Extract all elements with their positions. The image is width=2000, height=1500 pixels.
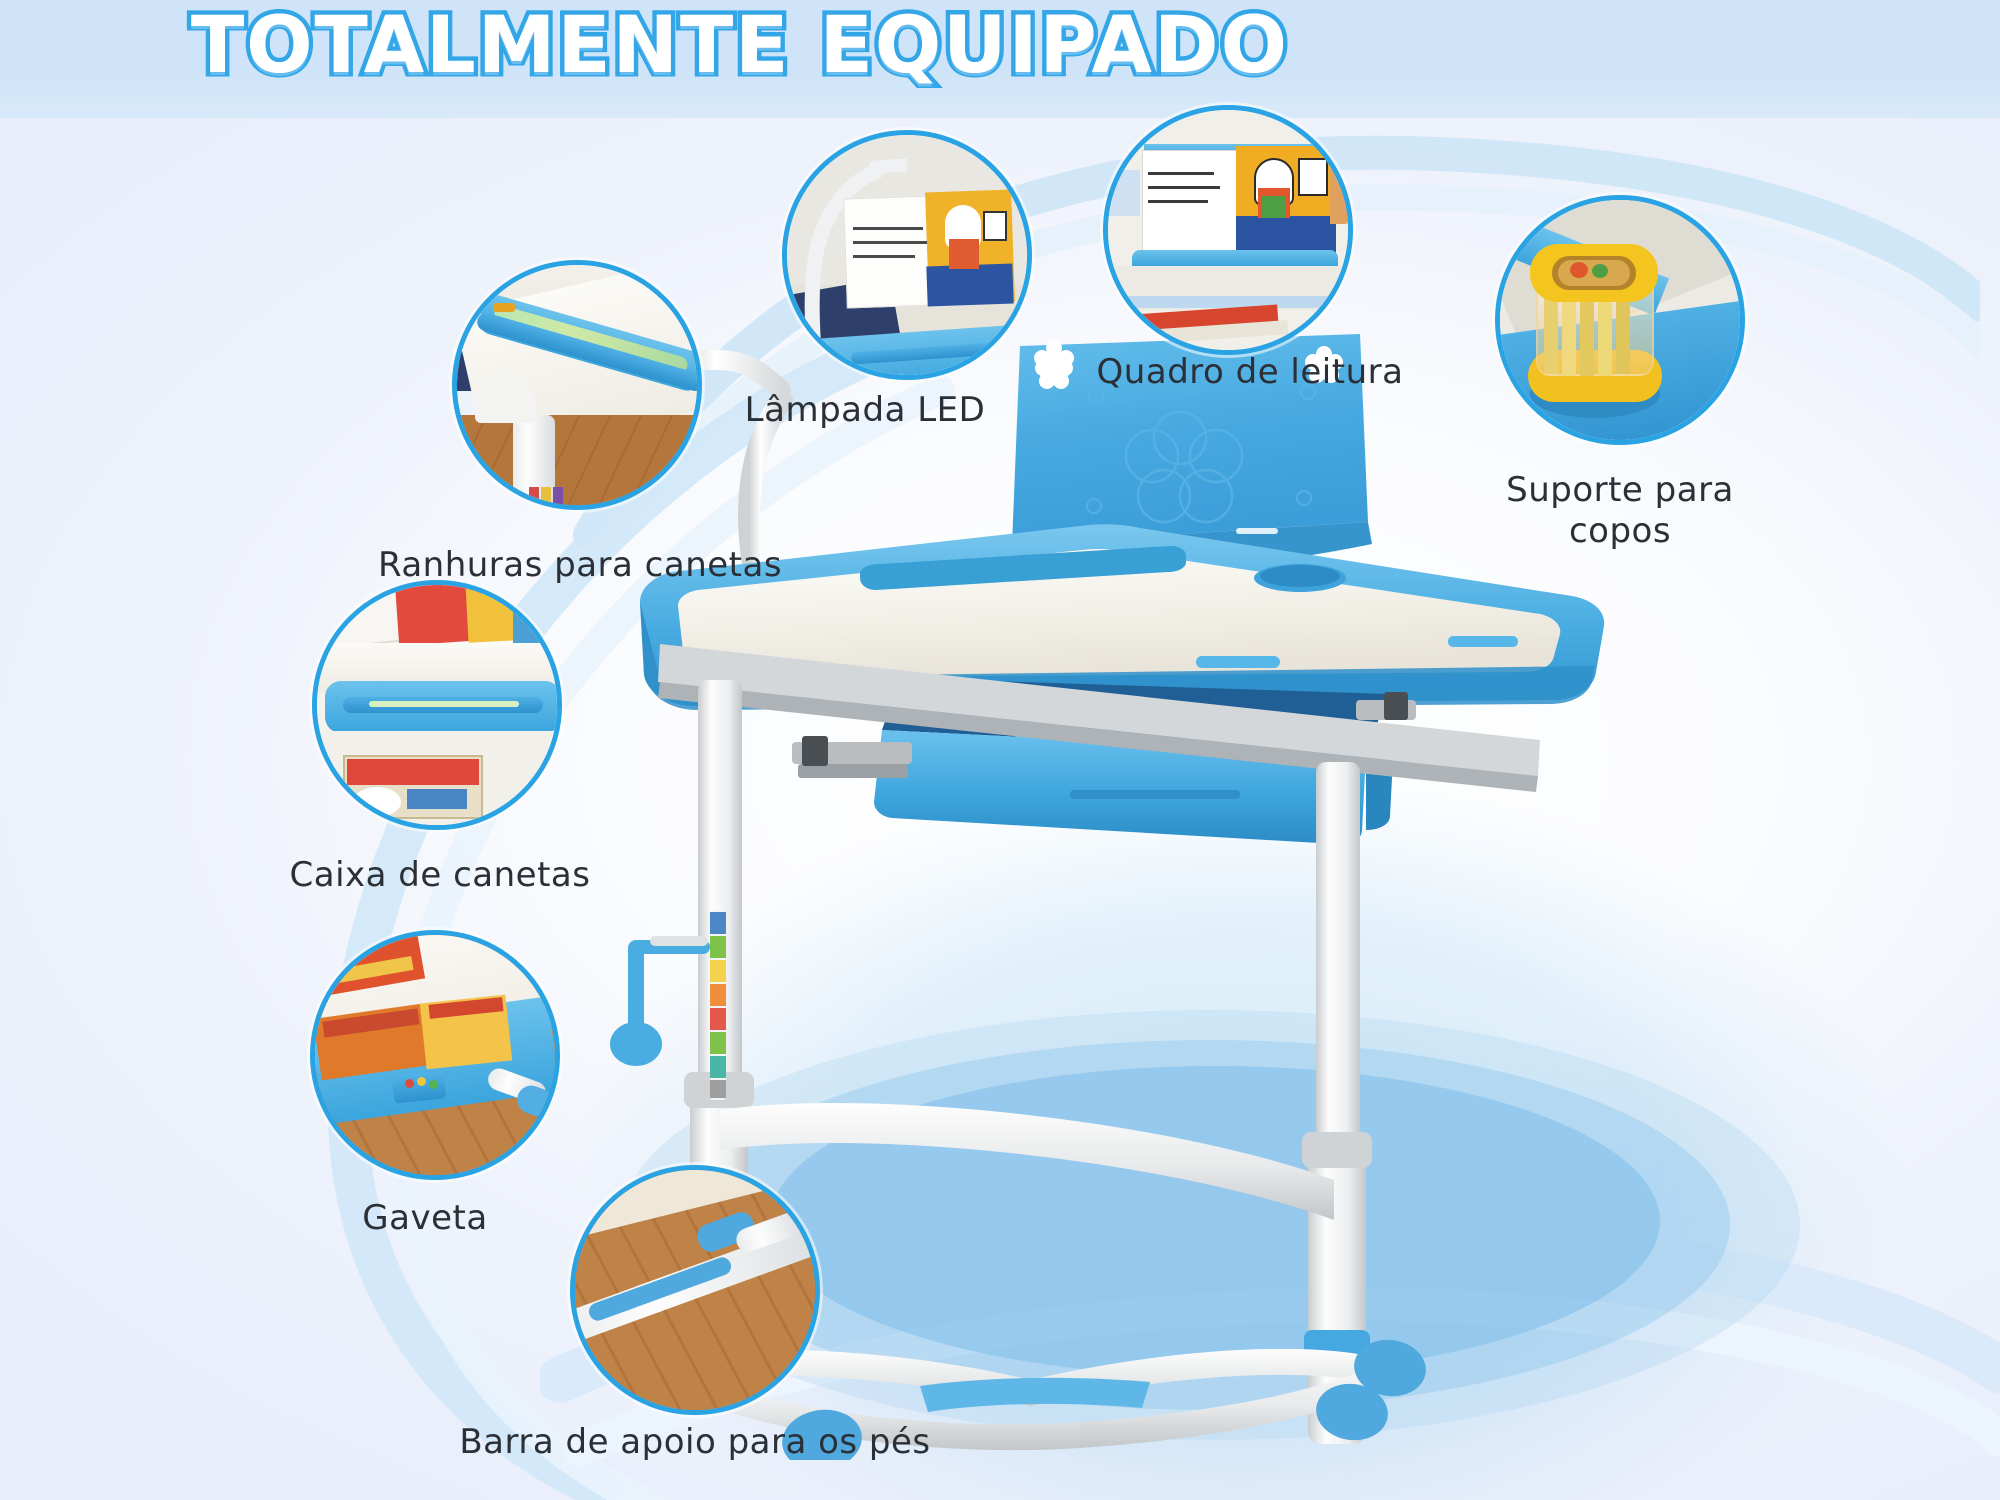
callout-label-footrest: Barra de apoio para os pés xyxy=(405,1422,985,1463)
callout-label-cup-holder: Suporte para copos xyxy=(1450,470,1790,553)
page-title: TOTALMENTE EQUIPADO xyxy=(0,0,1480,96)
callout-led-lamp[interactable] xyxy=(782,130,1032,380)
callout-cup-holder[interactable] xyxy=(1495,195,1745,445)
crank-handle xyxy=(610,936,710,1066)
callout-label-led-lamp: Lâmpada LED xyxy=(640,390,1090,431)
callout-label-pen-box: Caixa de canetas xyxy=(255,855,625,896)
callout-pen-slots[interactable] xyxy=(452,260,702,510)
callout-label-pen-slots: Ranhuras para canetas xyxy=(345,545,815,586)
callout-footrest[interactable] xyxy=(570,1165,820,1415)
infographic-canvas: TOTALMENTE EQUIPADO TOTALMENTE EQUIPADO xyxy=(0,0,2000,1500)
callout-reading-board[interactable] xyxy=(1103,105,1353,355)
callout-pen-box[interactable] xyxy=(312,580,562,830)
callout-drawer[interactable] xyxy=(310,930,560,1180)
callout-label-reading-board: Quadro de leitura xyxy=(1020,352,1480,393)
callout-label-drawer: Gaveta xyxy=(300,1198,550,1239)
poster-frame: TOTALMENTE EQUIPADO TOTALMENTE EQUIPADO xyxy=(0,0,2000,1500)
